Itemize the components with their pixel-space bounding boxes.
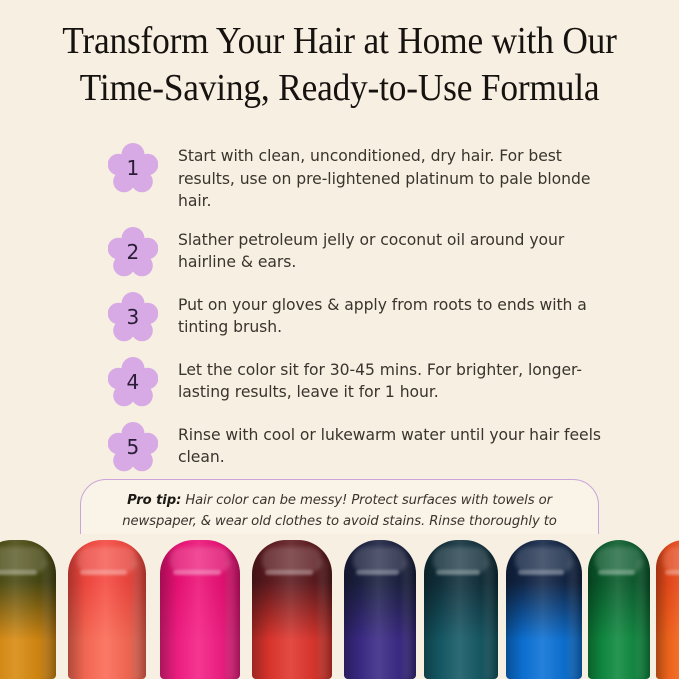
title-line-1: Transform Your Hair at Home with Our: [44, 18, 635, 65]
flower-icon: 1: [108, 143, 158, 193]
step-text: Rinse with cool or lukewarm water until …: [178, 420, 608, 469]
color-swatch-cobalt-blue: [506, 540, 582, 679]
color-swatch-bright-orange: [656, 540, 679, 679]
swatch-gloss-streak: [665, 570, 679, 575]
swatch-gloss-streak: [173, 570, 221, 575]
color-swatch-dark-cherry: [252, 540, 332, 679]
swatch-side-highlight: [636, 560, 646, 679]
swatch-gloss-streak: [436, 570, 480, 575]
color-swatch-hot-pink: [160, 540, 240, 679]
step-number: 1: [108, 143, 158, 193]
swatch-side-highlight: [132, 560, 142, 679]
color-swatch-indigo-violet: [344, 540, 416, 679]
swatch-gloss-streak: [518, 570, 564, 575]
swatch-gloss-streak: [598, 570, 635, 575]
infographic-page: Transform Your Hair at Home with Our Tim…: [0, 0, 679, 679]
steps-list: 1 Start with clean, unconditioned, dry h…: [108, 141, 608, 472]
flower-icon: 2: [108, 227, 158, 277]
swatch-side-highlight: [42, 560, 52, 679]
swatch-side-highlight: [226, 560, 236, 679]
color-swatch-olive-green: [0, 540, 56, 679]
color-swatch-deep-teal: [424, 540, 498, 679]
list-item: 2 Slather petroleum jelly or coconut oil…: [108, 225, 608, 277]
step-text: Slather petroleum jelly or coconut oil a…: [178, 225, 608, 274]
swatch-strip: [0, 534, 679, 679]
list-item: 4 Let the color sit for 30-45 mins. For …: [108, 355, 608, 407]
title-line-2: Time-Saving, Ready-to-Use Formula: [44, 65, 635, 112]
swatch-gloss-streak: [80, 570, 127, 575]
color-swatch-emerald-green: [588, 540, 650, 679]
swatch-side-highlight: [318, 560, 328, 679]
step-number: 5: [108, 422, 158, 472]
list-item: 3 Put on your gloves & apply from roots …: [108, 290, 608, 342]
step-number: 4: [108, 357, 158, 407]
page-title: Transform Your Hair at Home with Our Tim…: [0, 18, 679, 112]
swatch-gloss-streak: [0, 570, 37, 575]
step-number: 2: [108, 227, 158, 277]
list-item: 1 Start with clean, unconditioned, dry h…: [108, 141, 608, 213]
swatch-side-highlight: [402, 560, 412, 679]
color-swatch-coral-red: [68, 540, 146, 679]
step-text: Put on your gloves & apply from roots to…: [178, 290, 608, 339]
flower-icon: 3: [108, 292, 158, 342]
flower-icon: 4: [108, 357, 158, 407]
step-text: Let the color sit for 30-45 mins. For br…: [178, 355, 608, 404]
swatch-gloss-streak: [265, 570, 313, 575]
swatch-side-highlight: [568, 560, 578, 679]
swatch-side-highlight: [484, 560, 494, 679]
step-number: 3: [108, 292, 158, 342]
swatch-gloss-streak: [356, 570, 399, 575]
step-text: Start with clean, unconditioned, dry hai…: [178, 141, 608, 213]
pro-tip-label: Pro tip:: [127, 493, 181, 508]
list-item: 5 Rinse with cool or lukewarm water unti…: [108, 420, 608, 472]
flower-icon: 5: [108, 422, 158, 472]
